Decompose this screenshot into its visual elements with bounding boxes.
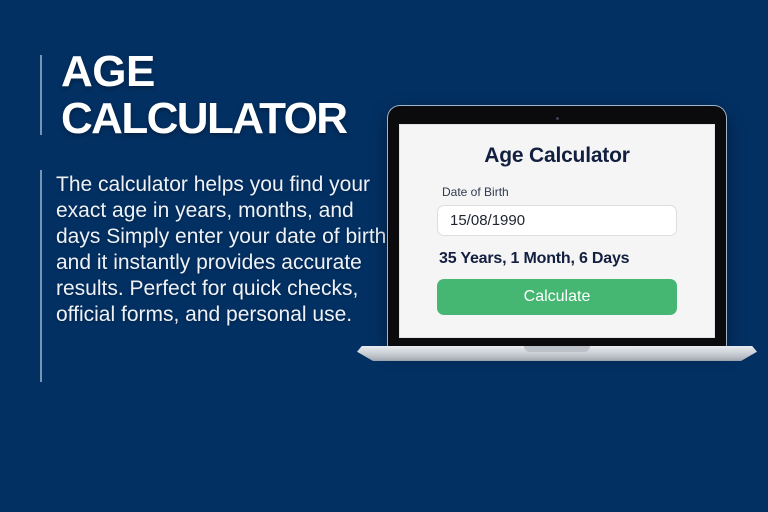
laptop-base-notch bbox=[524, 346, 590, 352]
laptop-mockup: Age Calculator Date of Birth 35 Years, 1… bbox=[357, 106, 757, 368]
date-of-birth-label: Date of Birth bbox=[442, 185, 677, 199]
page-title-line-2: CALCULATOR bbox=[61, 95, 391, 142]
page-title: AGE CALCULATOR bbox=[61, 48, 391, 142]
title-accent-rule bbox=[40, 55, 42, 135]
age-result-text: 35 Years, 1 Month, 6 Days bbox=[439, 250, 677, 268]
age-calculator-app: Age Calculator Date of Birth 35 Years, 1… bbox=[399, 124, 715, 338]
webcam-icon bbox=[556, 117, 559, 120]
description-accent-rule bbox=[40, 170, 42, 382]
laptop-lid: Age Calculator Date of Birth 35 Years, 1… bbox=[388, 106, 726, 348]
calculate-button[interactable]: Calculate bbox=[437, 279, 677, 315]
laptop-screen: Age Calculator Date of Birth 35 Years, 1… bbox=[399, 124, 715, 338]
date-of-birth-input[interactable] bbox=[437, 205, 677, 236]
page-description: The calculator helps you find your exact… bbox=[56, 172, 396, 328]
page-title-line-1: AGE bbox=[61, 48, 391, 95]
app-title: Age Calculator bbox=[437, 144, 677, 168]
hero-text-column: AGE CALCULATOR The calculator helps you … bbox=[0, 0, 400, 512]
